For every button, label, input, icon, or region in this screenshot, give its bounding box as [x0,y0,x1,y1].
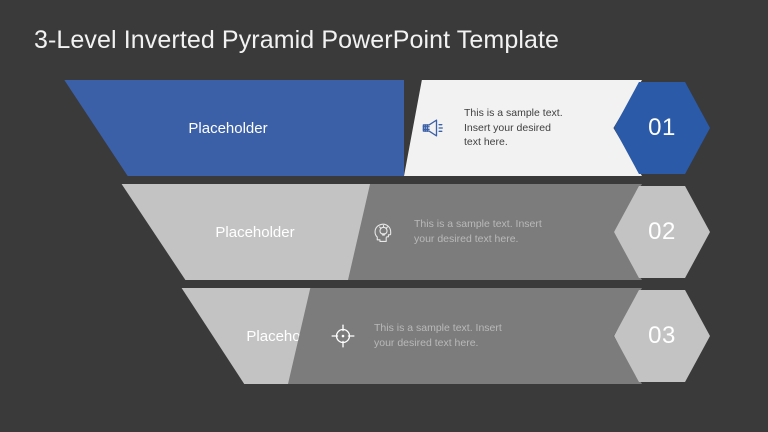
page-title: 3-Level Inverted Pyramid PowerPoint Temp… [34,26,559,55]
level-3-badge-number: 03 [648,322,676,350]
slide-canvas: 3-Level Inverted Pyramid PowerPoint Temp… [0,0,768,432]
inverted-pyramid-diagram: Placeholder This is a samp [0,80,768,392]
pyramid-level-2: Placeholder This is a sample text. Inse [0,184,768,280]
level-1-panel[interactable] [404,80,642,176]
level-2-badge-number: 02 [648,218,676,246]
pyramid-level-3: Placeholder This is a sample text. Inser… [0,288,768,384]
pyramid-level-1: Placeholder This is a samp [0,80,768,176]
level-1-band[interactable] [52,80,404,176]
level-2-panel[interactable] [348,184,642,280]
level-1-badge-number: 01 [648,114,676,142]
level-3-panel[interactable] [288,288,642,384]
